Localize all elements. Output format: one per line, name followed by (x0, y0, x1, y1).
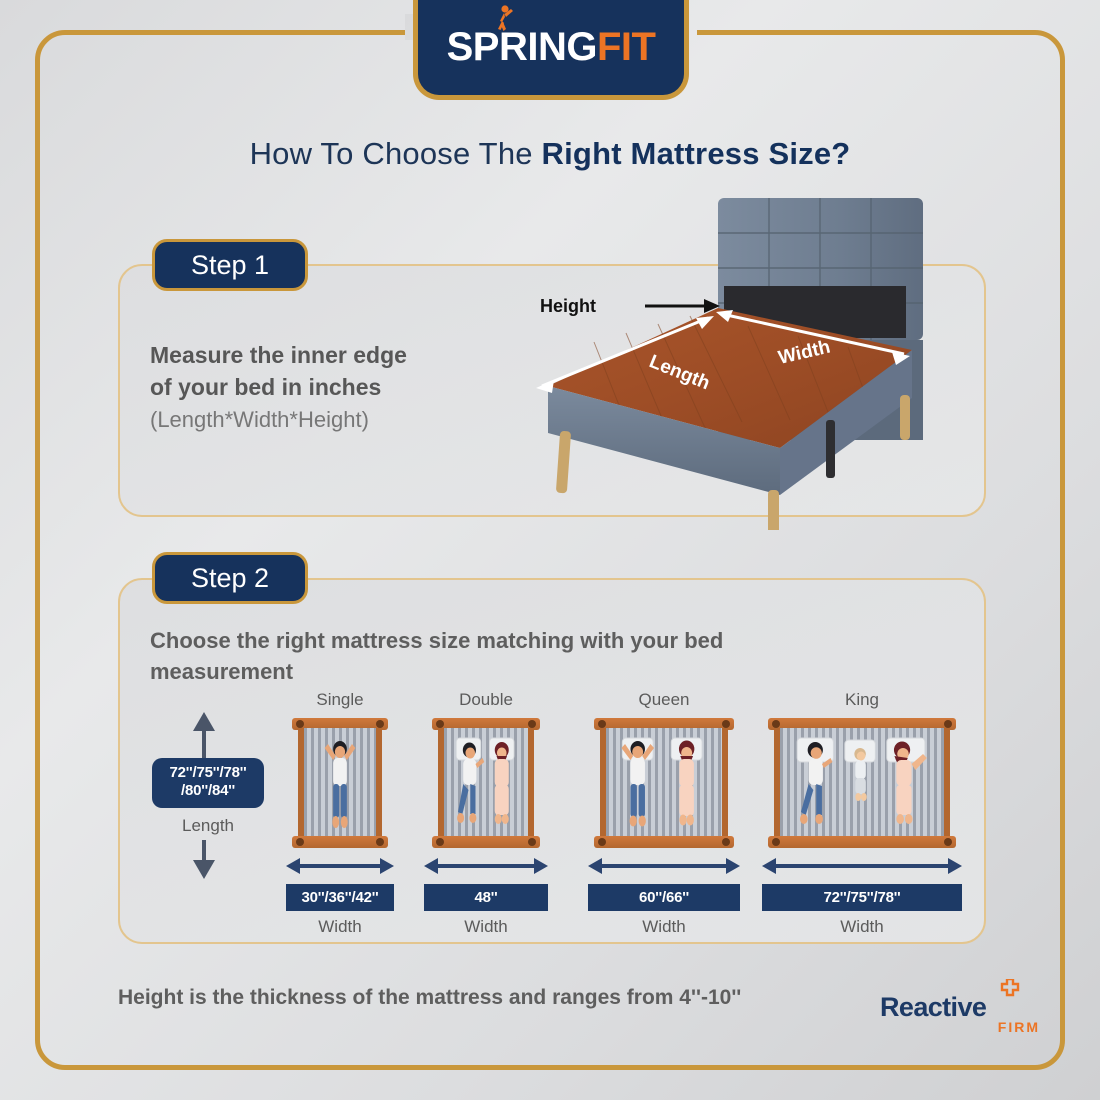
runner-icon (491, 5, 515, 35)
mattress-title-double: Double (432, 690, 540, 710)
width-value-king: 72''/75''/78'' (762, 884, 962, 911)
sleeper-group-king (780, 728, 944, 838)
mattress-title-queen: Queen (594, 690, 734, 710)
mattress-surface (774, 728, 950, 838)
length-caption: Length (152, 816, 264, 836)
length-arrow-up-icon (193, 712, 215, 731)
width-caption-double: Width (424, 917, 548, 937)
logo-spring-text: SPRING (447, 25, 597, 70)
width-value-double: 48'' (424, 884, 548, 911)
length-arrow-down-icon (193, 860, 215, 879)
width-indicator-king: 72''/75''/78'' Width (762, 856, 962, 937)
step-2-description: Choose the right mattress size matching … (150, 625, 870, 687)
width-value-single: 30''/36''/42'' (286, 884, 394, 911)
person-adult-female (679, 741, 694, 826)
page-title: How To Choose The Right Mattress Size? (0, 136, 1100, 172)
mattress-title-king: King (768, 690, 956, 710)
step-2-badge: Step 2 (152, 552, 308, 604)
width-caption-single: Width (286, 917, 394, 937)
mattress-surface (438, 728, 534, 838)
step-1-line-2: of your bed in inches (150, 372, 480, 404)
width-arrow-queen (588, 856, 740, 876)
mattress-surface (298, 728, 382, 838)
width-value-queen: 60''/66'' (588, 884, 740, 911)
brand-logo: SPRING FIT (413, 0, 689, 100)
mattress-rail-bottom (432, 836, 540, 848)
step-1-badge: Step 1 (152, 239, 308, 291)
cross-icon (1000, 979, 1020, 999)
bed-height-label: Height (540, 296, 596, 316)
width-arrow-double (424, 856, 548, 876)
length-arrow-shaft-bottom (202, 840, 206, 862)
mattress-frame-double (432, 718, 540, 848)
person-baby (854, 748, 866, 801)
mattress-frame-queen (594, 718, 734, 848)
partner-logo-reactive: Reactive FIRM (880, 992, 1040, 1044)
step-1-line-3: (Length*Width*Height) (150, 405, 480, 435)
mattress-card-single[interactable]: Single (292, 718, 388, 848)
sleeper-group-queen (606, 728, 722, 838)
width-caption-queen: Width (588, 917, 740, 937)
person-adult-male (325, 741, 356, 828)
page-title-plain: How To Choose The (250, 136, 542, 171)
mattress-title-single: Single (292, 690, 388, 710)
step-1-description: Measure the inner edge of your bed in in… (150, 340, 480, 436)
mattress-card-king[interactable]: King (768, 718, 956, 848)
mattress-card-queen[interactable]: Queen (594, 718, 734, 848)
person-adult-female (495, 742, 509, 824)
width-caption-king: Width (762, 917, 962, 937)
length-value-badge: 72''/75''/78'' /80''/84'' (152, 758, 264, 808)
mattress-card-double[interactable]: Double (432, 718, 540, 848)
length-arrow-shaft-top (202, 730, 206, 758)
length-indicator: 72''/75''/78'' /80''/84'' Length (152, 712, 264, 870)
logo-fit-text: FIT (597, 25, 655, 70)
width-indicator-double: 48'' Width (424, 856, 548, 937)
sleeper-group-single (304, 728, 376, 838)
length-value-line-1: 72''/75''/78'' (170, 764, 247, 781)
height-pointer (645, 299, 720, 313)
mattress-frame-single (292, 718, 388, 848)
bed-illustration: Length Width Height (480, 190, 980, 530)
width-indicator-single: 30''/36''/42'' Width (286, 856, 394, 937)
step-1-line-1: Measure the inner edge (150, 340, 480, 372)
mattress-rail-bottom (292, 836, 388, 848)
length-value-line-2: /80''/84'' (181, 782, 235, 799)
mattress-rail-bottom (594, 836, 734, 848)
mattress-frame-king (768, 718, 956, 848)
mattress-surface (600, 728, 728, 838)
mattress-rail-bottom (768, 836, 956, 848)
width-arrow-single (286, 856, 394, 876)
footer-note: Height is the thickness of the mattress … (118, 986, 741, 1010)
width-arrow-king (762, 856, 962, 876)
person-adult-male (621, 741, 654, 827)
page-title-bold: Right Mattress Size? (542, 136, 851, 171)
sleeper-group-double (444, 728, 528, 838)
width-indicator-queen: 60''/66'' Width (588, 856, 740, 937)
